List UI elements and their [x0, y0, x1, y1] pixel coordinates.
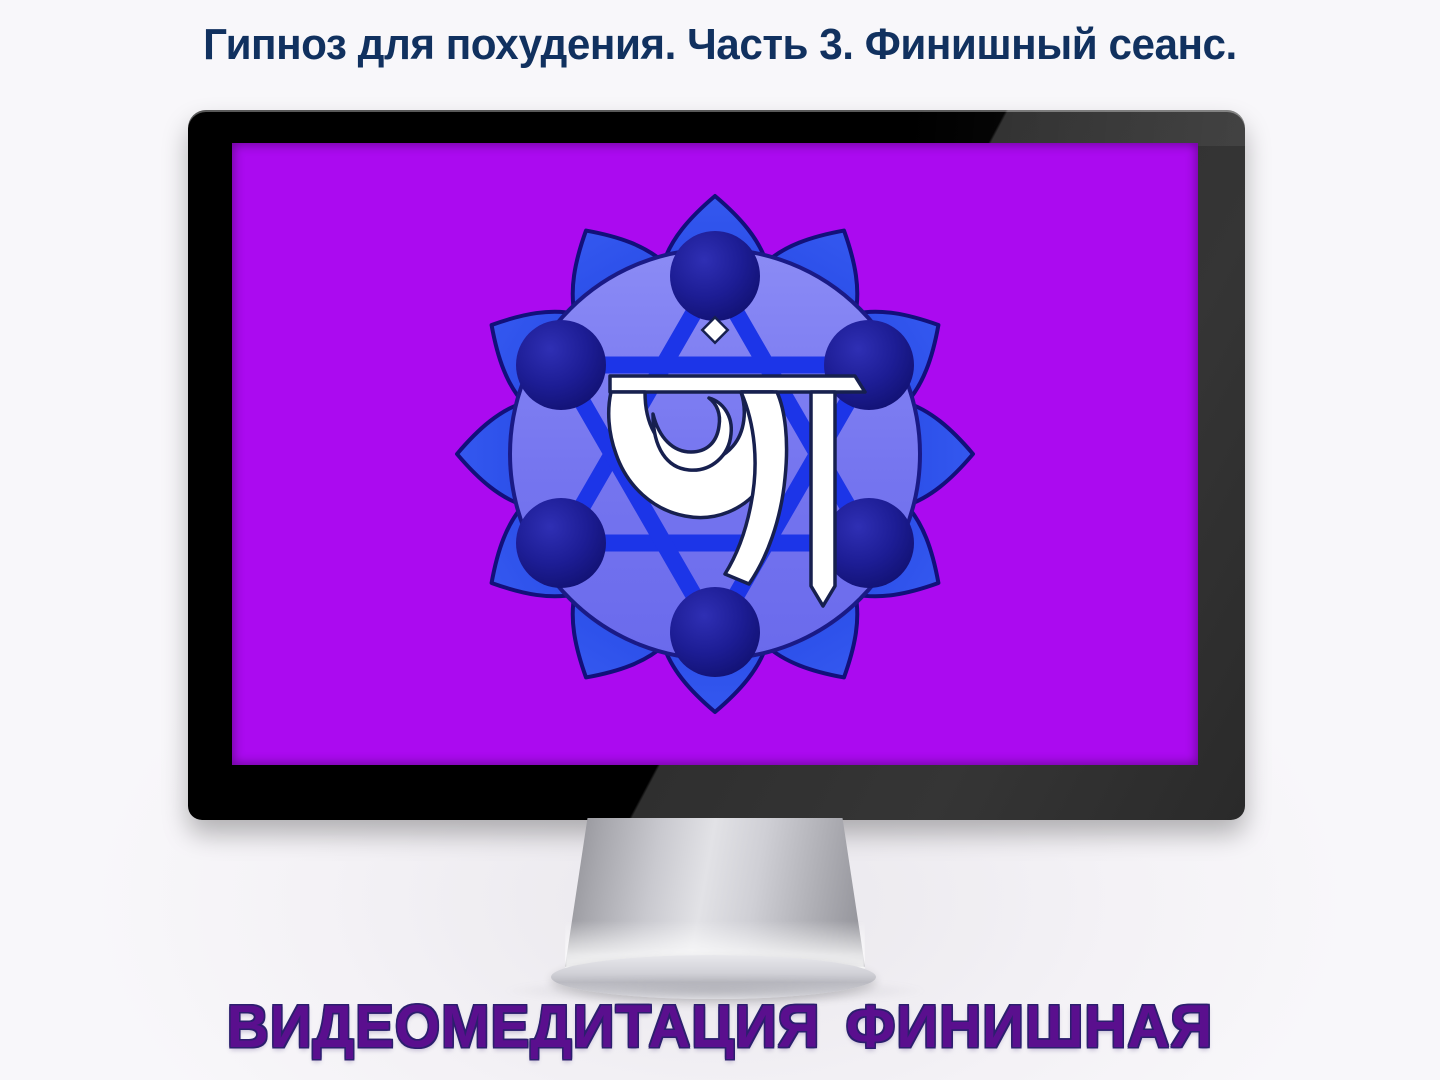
- caption-word-finishnaya: ФИНИШНАЯ: [846, 993, 1214, 1060]
- monitor-illustration: [188, 110, 1245, 820]
- monitor-screen: [232, 143, 1198, 765]
- page-title: Гипноз для похудения. Часть 3. Финишный …: [29, 20, 1411, 70]
- caption-word-videomeditation: ВИДЕОМЕДИТАЦИЯ: [227, 993, 821, 1060]
- bottom-caption: ВИДЕОМЕДИТАЦИЯФИНИШНАЯ: [22, 992, 1419, 1061]
- anahata-chakra-icon: [232, 143, 1198, 765]
